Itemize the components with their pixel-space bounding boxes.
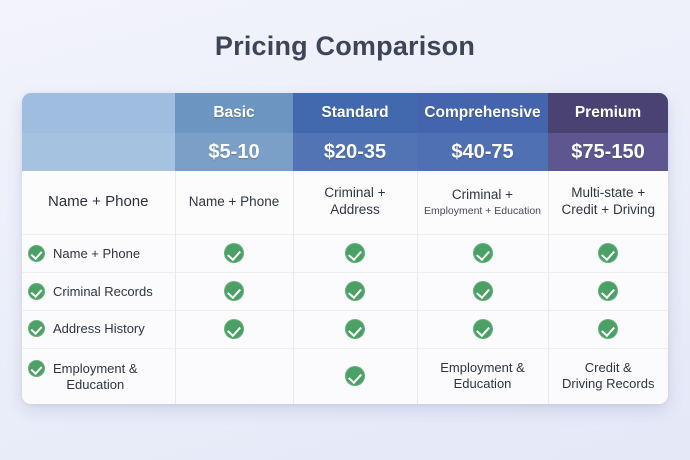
- feature-label-text-line2: Education: [66, 377, 124, 392]
- cell-comprehensive-criminal-records: [417, 272, 548, 310]
- corner-cell-blank: [22, 93, 175, 133]
- tier-price-standard: $20-35: [293, 133, 417, 171]
- summary-row-label: Name + Phone: [22, 171, 175, 234]
- check-circle-icon: [224, 281, 244, 301]
- corner-cell-blank-lower: [22, 133, 175, 171]
- summary-cell-basic: Name + Phone: [175, 171, 293, 234]
- page-title: Pricing Comparison: [0, 0, 690, 60]
- check-circle-icon: [28, 360, 45, 377]
- cell-premium-name-phone: [548, 234, 668, 272]
- cell-standard-name-phone: [293, 234, 417, 272]
- feature-label-criminal-records: Criminal Records: [22, 272, 175, 310]
- tier-header-standard[interactable]: Standard: [293, 93, 417, 133]
- check-circle-icon: [473, 319, 493, 339]
- check-circle-icon: [345, 243, 365, 263]
- cell-text-line2: Driving Records: [555, 376, 663, 392]
- table-row: Criminal Records: [22, 272, 668, 310]
- tier-header-premium[interactable]: Premium: [548, 93, 668, 133]
- summary-cell-standard: Criminal + Address: [293, 171, 417, 234]
- summary-cell-premium-main: Multi-state +: [555, 185, 663, 202]
- pricing-comparison-table: Basic Standard Comprehensive Premium $5-…: [22, 93, 668, 404]
- summary-cell-standard-main: Criminal + Address: [300, 185, 411, 219]
- check-circle-icon: [345, 319, 365, 339]
- check-circle-icon: [345, 281, 365, 301]
- check-circle-icon: [345, 366, 365, 386]
- cell-premium-criminal-records: [548, 272, 668, 310]
- summary-cell-premium: Multi-state + Credit + Driving: [548, 171, 668, 234]
- cell-text-line1: Employment &: [424, 360, 542, 376]
- check-circle-icon: [598, 319, 618, 339]
- summary-cell-comprehensive-main: Criminal +: [424, 187, 542, 204]
- cell-basic-name-phone: [175, 234, 293, 272]
- tier-header-row: Basic Standard Comprehensive Premium: [22, 93, 668, 133]
- cell-standard-employment-education: [293, 348, 417, 404]
- check-circle-icon: [473, 243, 493, 263]
- table-row: Address History: [22, 310, 668, 348]
- check-circle-icon: [28, 245, 45, 262]
- cell-text-line2: Education: [424, 376, 542, 392]
- cell-premium-address-history: [548, 310, 668, 348]
- table-row: Name + Phone: [22, 234, 668, 272]
- cell-standard-criminal-records: [293, 272, 417, 310]
- cell-comprehensive-name-phone: [417, 234, 548, 272]
- summary-row: Name + Phone Name + Phone Criminal + Add…: [22, 171, 668, 234]
- check-circle-icon: [224, 319, 244, 339]
- tier-price-comprehensive: $40-75: [417, 133, 548, 171]
- cell-premium-employment-education: Credit & Driving Records: [548, 348, 668, 404]
- cell-basic-address-history: [175, 310, 293, 348]
- check-circle-icon: [28, 283, 45, 300]
- summary-cell-basic-main: Name + Phone: [182, 194, 287, 211]
- check-circle-icon: [473, 281, 493, 301]
- cell-text-line1: Credit &: [555, 360, 663, 376]
- cell-comprehensive-address-history: [417, 310, 548, 348]
- tier-price-premium: $75-150: [548, 133, 668, 171]
- feature-label-text: Employment &: [53, 361, 138, 376]
- tier-header-basic[interactable]: Basic: [175, 93, 293, 133]
- tier-header-comprehensive[interactable]: Comprehensive: [417, 93, 548, 133]
- cell-basic-employment-education: [175, 348, 293, 404]
- table-row: Employment & Education Employment & Educ…: [22, 348, 668, 404]
- feature-label-text: Name + Phone: [53, 245, 140, 262]
- summary-cell-premium-sub: Credit + Driving: [555, 202, 663, 219]
- tier-price-row: $5-10 $20-35 $40-75 $75-150: [22, 133, 668, 171]
- check-circle-icon: [224, 243, 244, 263]
- tier-price-basic: $5-10: [175, 133, 293, 171]
- check-circle-icon: [28, 320, 45, 337]
- feature-label-text: Address History: [53, 320, 145, 337]
- cell-basic-criminal-records: [175, 272, 293, 310]
- check-circle-icon: [598, 243, 618, 263]
- feature-label-address-history: Address History: [22, 310, 175, 348]
- feature-label-text: Criminal Records: [53, 283, 153, 300]
- cell-comprehensive-employment-education: Employment & Education: [417, 348, 548, 404]
- summary-cell-comprehensive-sub: Employment + Education: [424, 205, 542, 218]
- summary-cell-comprehensive: Criminal + Employment + Education: [417, 171, 548, 234]
- feature-label-name-phone: Name + Phone: [22, 234, 175, 272]
- check-circle-icon: [598, 281, 618, 301]
- feature-label-employment-education: Employment & Education: [22, 348, 175, 404]
- cell-standard-address-history: [293, 310, 417, 348]
- pricing-comparison-card: Basic Standard Comprehensive Premium $5-…: [22, 93, 668, 404]
